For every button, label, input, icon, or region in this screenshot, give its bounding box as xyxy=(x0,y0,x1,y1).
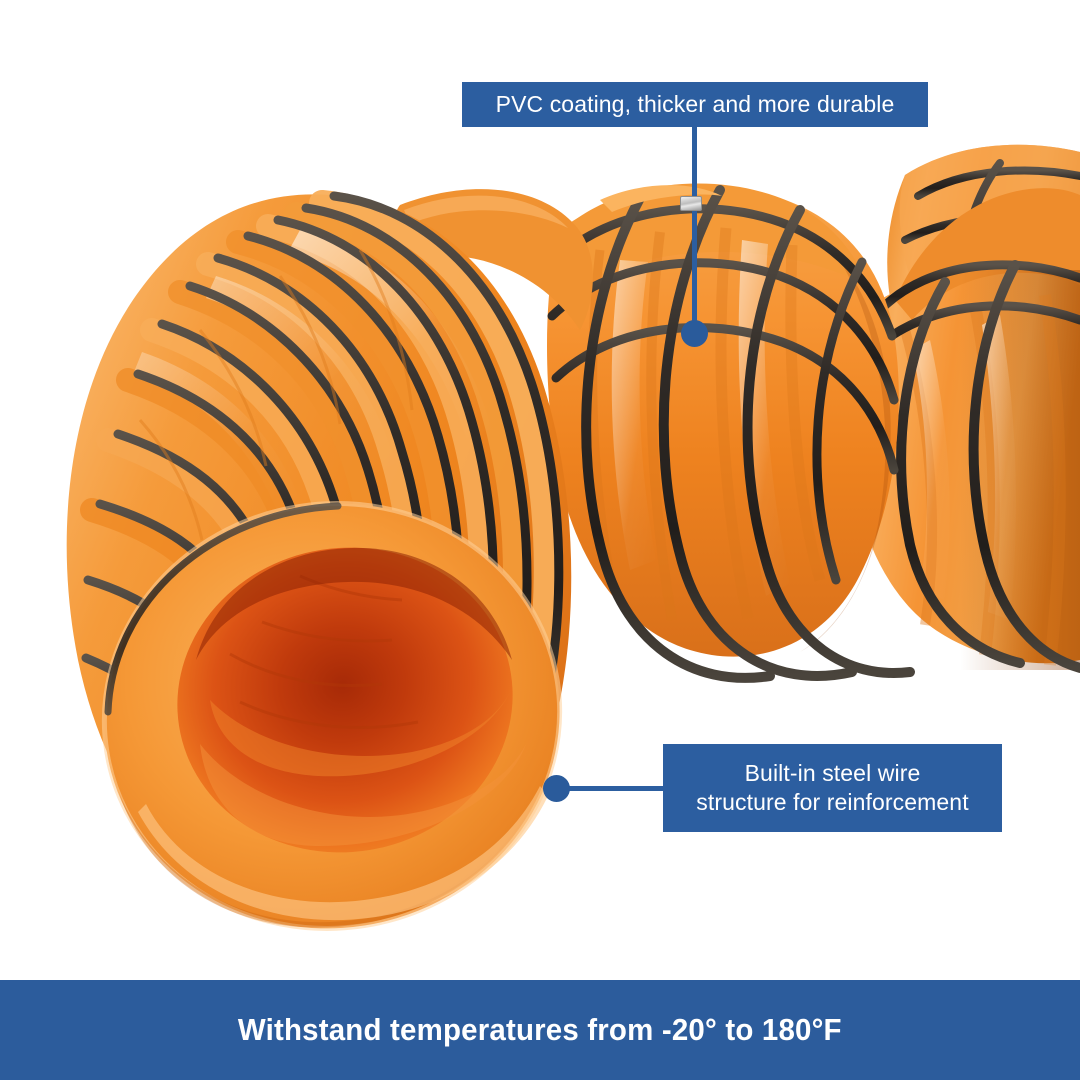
temperature-banner-text: Withstand temperatures from -20° to 180°… xyxy=(238,1012,842,1048)
temperature-banner: Withstand temperatures from -20° to 180°… xyxy=(0,980,1080,1080)
infographic-canvas: PVC coating, thicker and more durable Bu… xyxy=(0,0,1080,1080)
callout-2-connector-line xyxy=(556,786,666,791)
callout-1-anchor-dot xyxy=(681,320,708,347)
callout-1-connector-line xyxy=(692,127,697,335)
callout-2-line-1: Built-in steel wire xyxy=(745,760,921,786)
product-photo xyxy=(0,0,1080,980)
callout-2-anchor-dot xyxy=(543,775,570,802)
callout-1-text: PVC coating, thicker and more durable xyxy=(496,90,895,119)
callout-steel-wire: Built-in steel wire structure for reinfo… xyxy=(663,744,1002,832)
hose-center-barrel xyxy=(547,184,910,678)
callout-pvc-coating: PVC coating, thicker and more durable xyxy=(462,82,928,127)
ducting-hose-illustration xyxy=(0,0,1080,980)
callout-2-line-2: structure for reinforcement xyxy=(696,789,968,815)
steel-wire-clip-icon xyxy=(680,196,702,211)
callout-2-text: Built-in steel wire structure for reinfo… xyxy=(696,759,968,818)
